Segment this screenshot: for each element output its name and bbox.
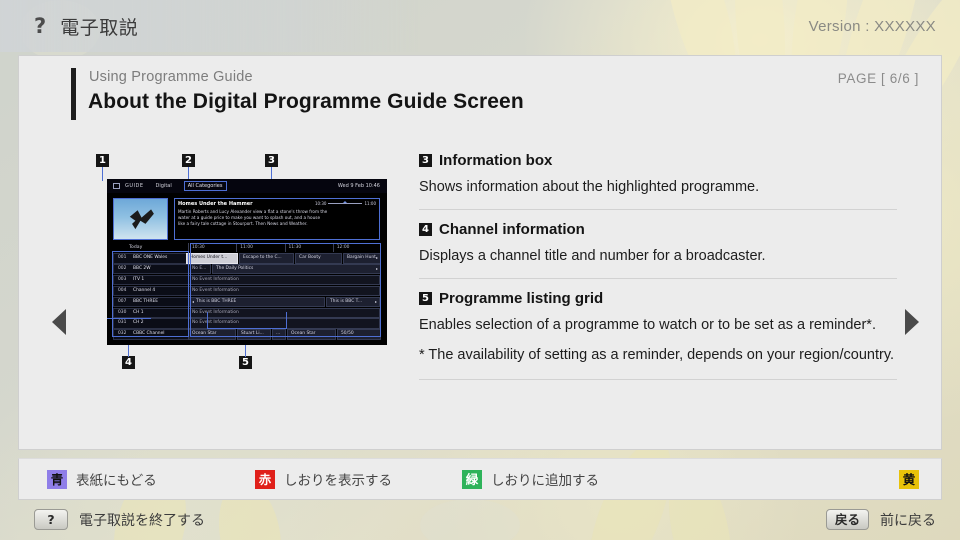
callout-bracket-4 [107, 318, 151, 319]
tv-programme-cells: No Event Information [188, 286, 381, 297]
version-label: Version : XXXXXX [809, 18, 936, 35]
tv-info-start-time: 10:30 [315, 201, 327, 206]
tv-channel-name: BBC THREE [133, 298, 158, 307]
tv-programme-title: This is BBC T... [330, 298, 362, 306]
callout-marker-2: 2 [182, 154, 195, 167]
tv-programme-title: ... [276, 330, 280, 338]
tv-programme-cell[interactable]: No Event Information [188, 275, 380, 286]
tv-channel-name: CH 2 [133, 319, 144, 328]
tv-grid-row[interactable]: 032CBBC ChannelOcean StarStuart Li......… [113, 329, 381, 340]
chevron-right-icon: ▸ [376, 265, 378, 273]
section-heading-text: Channel information [439, 221, 585, 238]
exit-action[interactable]: ? 電子取説を終了する [34, 509, 205, 530]
bottom-action-bar: ? 電子取説を終了する 戻る 前に戻る [0, 500, 960, 540]
description-section: 4Channel informationDisplays a channel t… [419, 209, 897, 278]
tv-grid-row[interactable]: 004Channel 4No Event Information [113, 286, 381, 297]
tv-programme-cells: No Event Information [188, 275, 381, 286]
colour-key-yellow[interactable]: 黄 [899, 470, 919, 489]
tv-programme-title: Car Booty [299, 254, 321, 262]
tv-programme-title: No E... [192, 265, 206, 273]
tv-grid-row[interactable]: 002BBC 2WNo E...The Daily Politics▸ [113, 264, 381, 275]
tv-guide-label: GUIDE [125, 183, 144, 189]
legend-item-green[interactable]: 緑しおりに追加する [462, 469, 599, 489]
tv-channel-number: 004 [114, 287, 133, 296]
tv-programme-cell[interactable]: No Event Information [188, 308, 380, 319]
section-heading: 4Channel information [419, 221, 897, 238]
title-accent-bar [71, 68, 76, 120]
legend-label: しおりを表示する [284, 469, 392, 489]
tv-programme-title: Ocean Star [192, 330, 216, 338]
bird-silhouette-icon [127, 208, 155, 230]
callout-bracket-5-left [207, 312, 208, 329]
page-indicator: PAGE [ 6/6 ] [838, 71, 919, 86]
tv-programme-cell[interactable]: 50/50 [337, 329, 381, 340]
page-title: About the Digital Programme Guide Screen [88, 90, 524, 114]
legend-label: 表紙にもどる [76, 469, 157, 489]
tv-channel-name: CH 1 [133, 309, 144, 318]
callout-marker-3: 3 [265, 154, 278, 167]
section-heading-text: Programme listing grid [439, 290, 603, 307]
question-key-button[interactable]: ? [34, 509, 68, 530]
section-paragraph: Enables selection of a programme to watc… [419, 315, 897, 337]
section-kicker: Using Programme Guide [89, 69, 253, 85]
tv-channel-cell[interactable]: 032CBBC Channel [113, 329, 188, 340]
tv-programme-cell[interactable]: Stuart Li... [237, 329, 271, 340]
callout-leader-1 [102, 167, 103, 181]
tv-today-label: Today [113, 243, 188, 252]
tv-programme-cell[interactable]: This is BBC T...▸ [326, 297, 380, 308]
tv-time-slot: 11:30 [285, 243, 333, 252]
tv-grid-timeline-header: Today 10:30 11:00 11:30 12:00 [113, 243, 381, 252]
section-paragraph: Displays a channel title and number for … [419, 246, 897, 268]
legend-item-red[interactable]: 赤しおりを表示する [255, 469, 392, 489]
tv-info-progress-bar [328, 203, 362, 204]
tv-grid-row[interactable]: 030CH 1No Event Information [113, 308, 381, 319]
section-heading: 5Programme listing grid [419, 290, 897, 307]
tv-programme-title: Bargain Hunt [347, 254, 376, 262]
tv-programme-cell[interactable]: Bargain Hunt▸ [343, 253, 381, 264]
app-title: 電子取説 [60, 13, 138, 40]
back-label: 前に戻る [880, 510, 936, 530]
tv-programme-cell[interactable]: ◂This is BBC THREE [188, 297, 325, 308]
tv-programme-grid: Today 10:30 11:00 11:30 12:00 001BBC ONE… [113, 243, 381, 337]
tv-channel-cell[interactable]: 030CH 1 [113, 308, 188, 319]
tv-channel-name: Channel 4 [133, 287, 155, 296]
colour-key-legend: 青表紙にもどる赤しおりを表示する緑しおりに追加する黄 [18, 458, 942, 500]
tv-preview-thumbnail [113, 198, 168, 240]
tv-programme-cell[interactable]: Escape to the C... [239, 253, 294, 264]
tv-time-slot: 10:30 [188, 243, 236, 252]
tv-programme-title: No Event Information [192, 287, 239, 295]
triangle-right-icon[interactable] [905, 309, 919, 335]
tv-info-time-range: 10:30 11:00 [315, 201, 376, 206]
tv-time-slot: 11:00 [236, 243, 284, 252]
tv-programme-title: No Event Information [192, 319, 239, 327]
tv-channel-name: BBC 2W [133, 265, 151, 274]
tv-programme-cells: Homes Under t...Escape to the C...Car Bo… [186, 253, 381, 264]
chevron-left-icon: ◂ [192, 298, 194, 306]
section-paragraph: * The availability of setting as a remin… [419, 345, 897, 367]
question-mark-icon: ? [34, 14, 46, 38]
section-badge: 3 [419, 154, 432, 167]
tv-info-end-time: 11:00 [364, 201, 376, 206]
tv-programme-cell[interactable]: No Event Information [188, 286, 380, 297]
back-key-button[interactable]: 戻る [826, 509, 869, 530]
tv-programme-title: No Event Information [192, 309, 239, 317]
section-badge: 5 [419, 292, 432, 305]
callout-marker-5: 5 [239, 356, 252, 369]
app-header: ? 電子取説 Version : XXXXXX [0, 0, 960, 52]
section-divider [419, 379, 897, 380]
chevron-right-icon: ▸ [376, 254, 378, 262]
tv-grid-row[interactable]: 003ITV 1No Event Information [113, 275, 381, 286]
tv-programme-title: No Event Information [192, 276, 239, 284]
tv-programme-title: Escape to the C... [243, 254, 282, 262]
guide-screen-figure: 1 2 3 4 5 GUIDE Digital All Categories W… [87, 151, 387, 416]
tv-programme-title: Ocean Star [291, 330, 315, 338]
description-section: 3Information boxShows information about … [419, 152, 897, 209]
tv-channel-cell[interactable]: 002BBC 2W [113, 264, 188, 275]
tv-guide-topbar: GUIDE Digital All Categories Wed 9 Feb 1… [107, 179, 387, 193]
callout-marker-1: 1 [96, 154, 109, 167]
tv-programme-cell[interactable]: No E... [188, 264, 211, 275]
tv-channel-number: 030 [114, 309, 133, 318]
callout-marker-4: 4 [122, 356, 135, 369]
tv-channel-name: CBBC Channel [133, 330, 165, 339]
tv-channel-number: 032 [114, 330, 133, 339]
tv-programme-title: This is BBC THREE [196, 298, 236, 306]
tv-clock: Wed 9 Feb 10:46 [338, 183, 380, 189]
tv-programme-cell[interactable]: Ocean Star [188, 329, 236, 340]
tv-channel-number: 002 [114, 265, 133, 274]
section-heading: 3Information box [419, 152, 897, 169]
legend-item-yellow[interactable]: 黄 [899, 470, 919, 489]
grid-icon [113, 183, 120, 189]
chevron-right-icon: ▸ [375, 298, 377, 306]
tv-time-slot: 12:00 [333, 243, 381, 252]
tv-programme-cell[interactable]: The Daily Politics▸ [212, 264, 381, 275]
description-section: 5Programme listing gridEnables selection… [419, 278, 897, 378]
tv-grid-row[interactable]: 007BBC THREE◂This is BBC THREEThis is BB… [113, 297, 381, 308]
tv-programme-title: Homes Under t... [190, 254, 227, 262]
tv-channel-cell[interactable]: 007BBC THREE [113, 297, 188, 308]
tv-information-box: Homes Under the Hammer Martin Roberts an… [174, 198, 380, 240]
tv-digital-label[interactable]: Digital [156, 183, 172, 189]
tv-programme-title: Stuart Li... [241, 330, 264, 338]
exit-label: 電子取説を終了する [79, 510, 205, 530]
panel-header: Using Programme Guide About the Digital … [71, 66, 919, 128]
colour-key-green[interactable]: 緑 [462, 470, 482, 489]
section-heading-text: Information box [439, 152, 552, 169]
tv-channel-name: BBC ONE Wales [133, 254, 167, 263]
tv-programme-cells: Ocean StarStuart Li......Ocean Star50/50 [188, 329, 381, 340]
tv-guide-mockup: GUIDE Digital All Categories Wed 9 Feb 1… [107, 179, 387, 345]
tv-channel-number: 031 [114, 319, 133, 328]
tv-channel-cell[interactable]: 001BBC ONE Wales [113, 253, 186, 264]
section-badge: 4 [419, 223, 432, 236]
tv-channel-name: ITV 1 [133, 276, 144, 285]
section-paragraph: Shows information about the highlighted … [419, 177, 897, 199]
tv-categories-button[interactable]: All Categories [184, 181, 227, 191]
tv-programme-cell[interactable]: Car Booty [295, 253, 342, 264]
tv-channel-cell[interactable]: 031CH 2 [113, 318, 188, 329]
tv-channel-number: 001 [114, 254, 133, 263]
tv-programme-cell[interactable]: Homes Under t... [186, 253, 238, 264]
tv-channel-number: 007 [114, 298, 133, 307]
callout-bracket-5-right [286, 312, 287, 329]
tv-programme-title: 50/50 [341, 330, 354, 338]
colour-key-blue[interactable]: 青 [47, 470, 67, 489]
colour-key-red[interactable]: 赤 [255, 470, 275, 489]
callout-bracket-5 [207, 328, 287, 329]
tv-programme-cells: No E...The Daily Politics▸ [188, 264, 381, 275]
tv-channel-number: 003 [114, 276, 133, 285]
tv-programme-cells: ◂This is BBC THREEThis is BBC T...▸ [188, 297, 381, 308]
tv-grid-row[interactable]: 001BBC ONE WalesHomes Under t...Escape t… [113, 253, 381, 264]
tv-programme-cells: No Event Information [188, 308, 381, 319]
back-action[interactable]: 戻る 前に戻る [826, 509, 936, 530]
triangle-left-icon[interactable] [52, 309, 66, 335]
legend-item-blue[interactable]: 青表紙にもどる [47, 469, 157, 489]
tv-programme-title: The Daily Politics [216, 265, 253, 273]
content-panel: Using Programme Guide About the Digital … [18, 55, 942, 450]
legend-label: しおりに追加する [491, 469, 599, 489]
tv-channel-cell[interactable]: 004Channel 4 [113, 286, 188, 297]
tv-programme-cell[interactable]: Ocean Star [287, 329, 336, 340]
tv-channel-cell[interactable]: 003ITV 1 [113, 275, 188, 286]
description-column: 3Information boxShows information about … [419, 152, 897, 380]
tv-info-description: Martin Roberts and Lucy Alexander view a… [178, 209, 328, 227]
tv-programme-cell[interactable]: ... [272, 329, 286, 340]
